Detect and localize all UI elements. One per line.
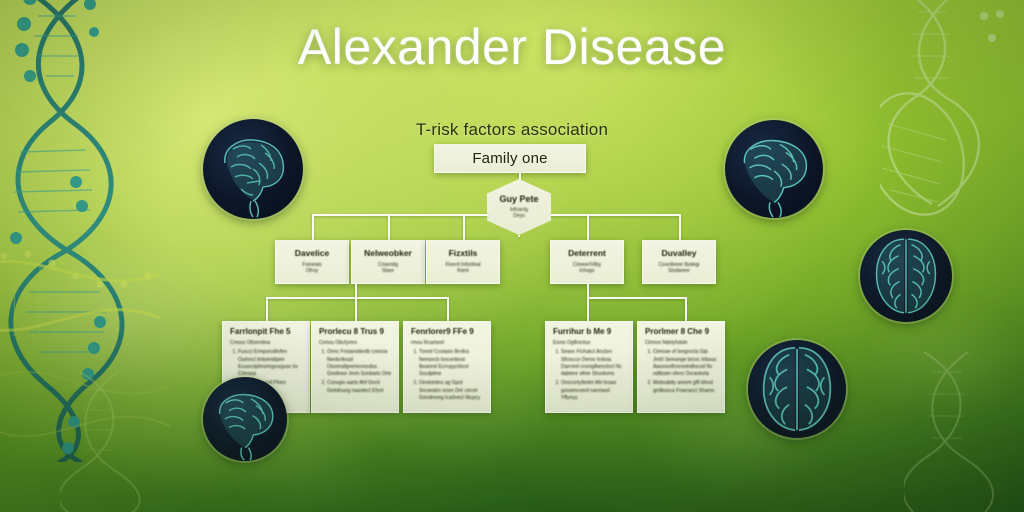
poster-canvas: Alexander Disease T-risk factors associa… xyxy=(0,0,1024,512)
vignette-overlay xyxy=(0,0,1024,512)
